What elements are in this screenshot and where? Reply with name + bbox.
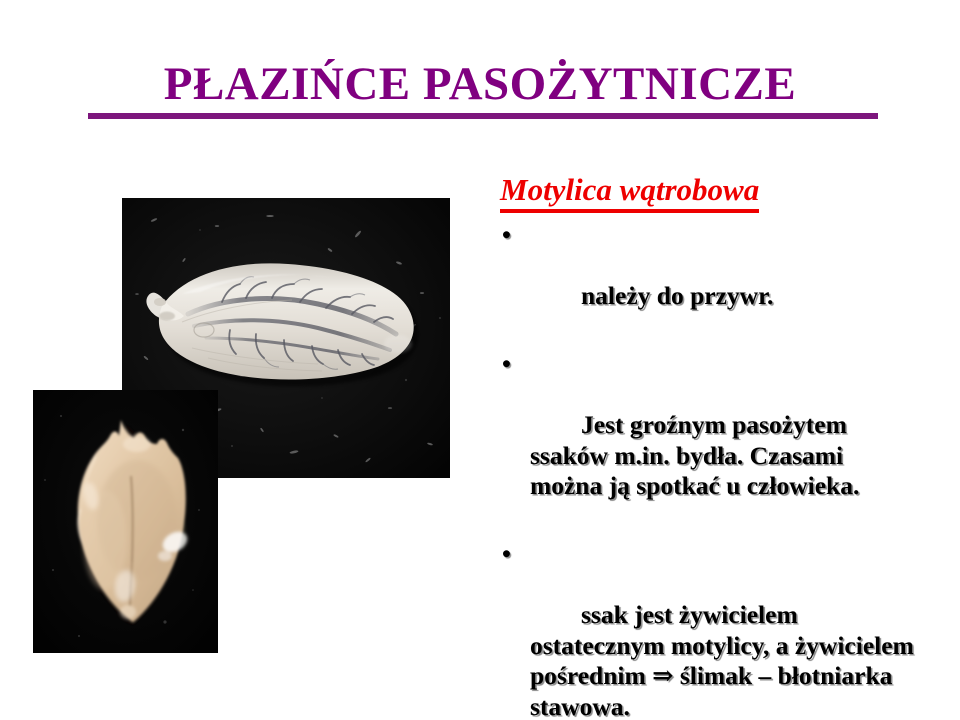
title-underline-rule <box>88 113 878 119</box>
list-item: • Jest groźnym pasożytem ssaków m.in. by… <box>496 349 916 532</box>
fluke-specimen-photo <box>33 390 218 653</box>
list-item-text: ssak jest żywicielem ostatecznym motylic… <box>530 600 920 720</box>
page-title: PŁAZIŃCE PASOŻYTNICZE <box>0 58 960 110</box>
slide-canvas: PŁAZIŃCE PASOŻYTNICZE <box>0 0 960 720</box>
list-item-text: Jest groźnym pasożytem ssaków m.in. bydł… <box>530 410 859 500</box>
bullet-list: • należy do przywr. • Jest groźnym pasoż… <box>496 220 916 720</box>
bullet-marker-icon: • <box>502 539 511 570</box>
bullet-marker-icon: • <box>502 349 511 380</box>
list-item-text: należy do przywr. <box>581 281 773 310</box>
fluke-specimen-illustration <box>33 390 218 653</box>
content-column: Motylica wątrobowa • należy do przywr. •… <box>496 172 916 720</box>
bullet-marker-icon: • <box>502 220 511 251</box>
list-item: • należy do przywr. <box>496 220 916 342</box>
subtitle-heading: Motylica wątrobowa <box>500 172 759 213</box>
list-item: • ssak jest żywicielem ostatecznym motyl… <box>496 539 916 720</box>
